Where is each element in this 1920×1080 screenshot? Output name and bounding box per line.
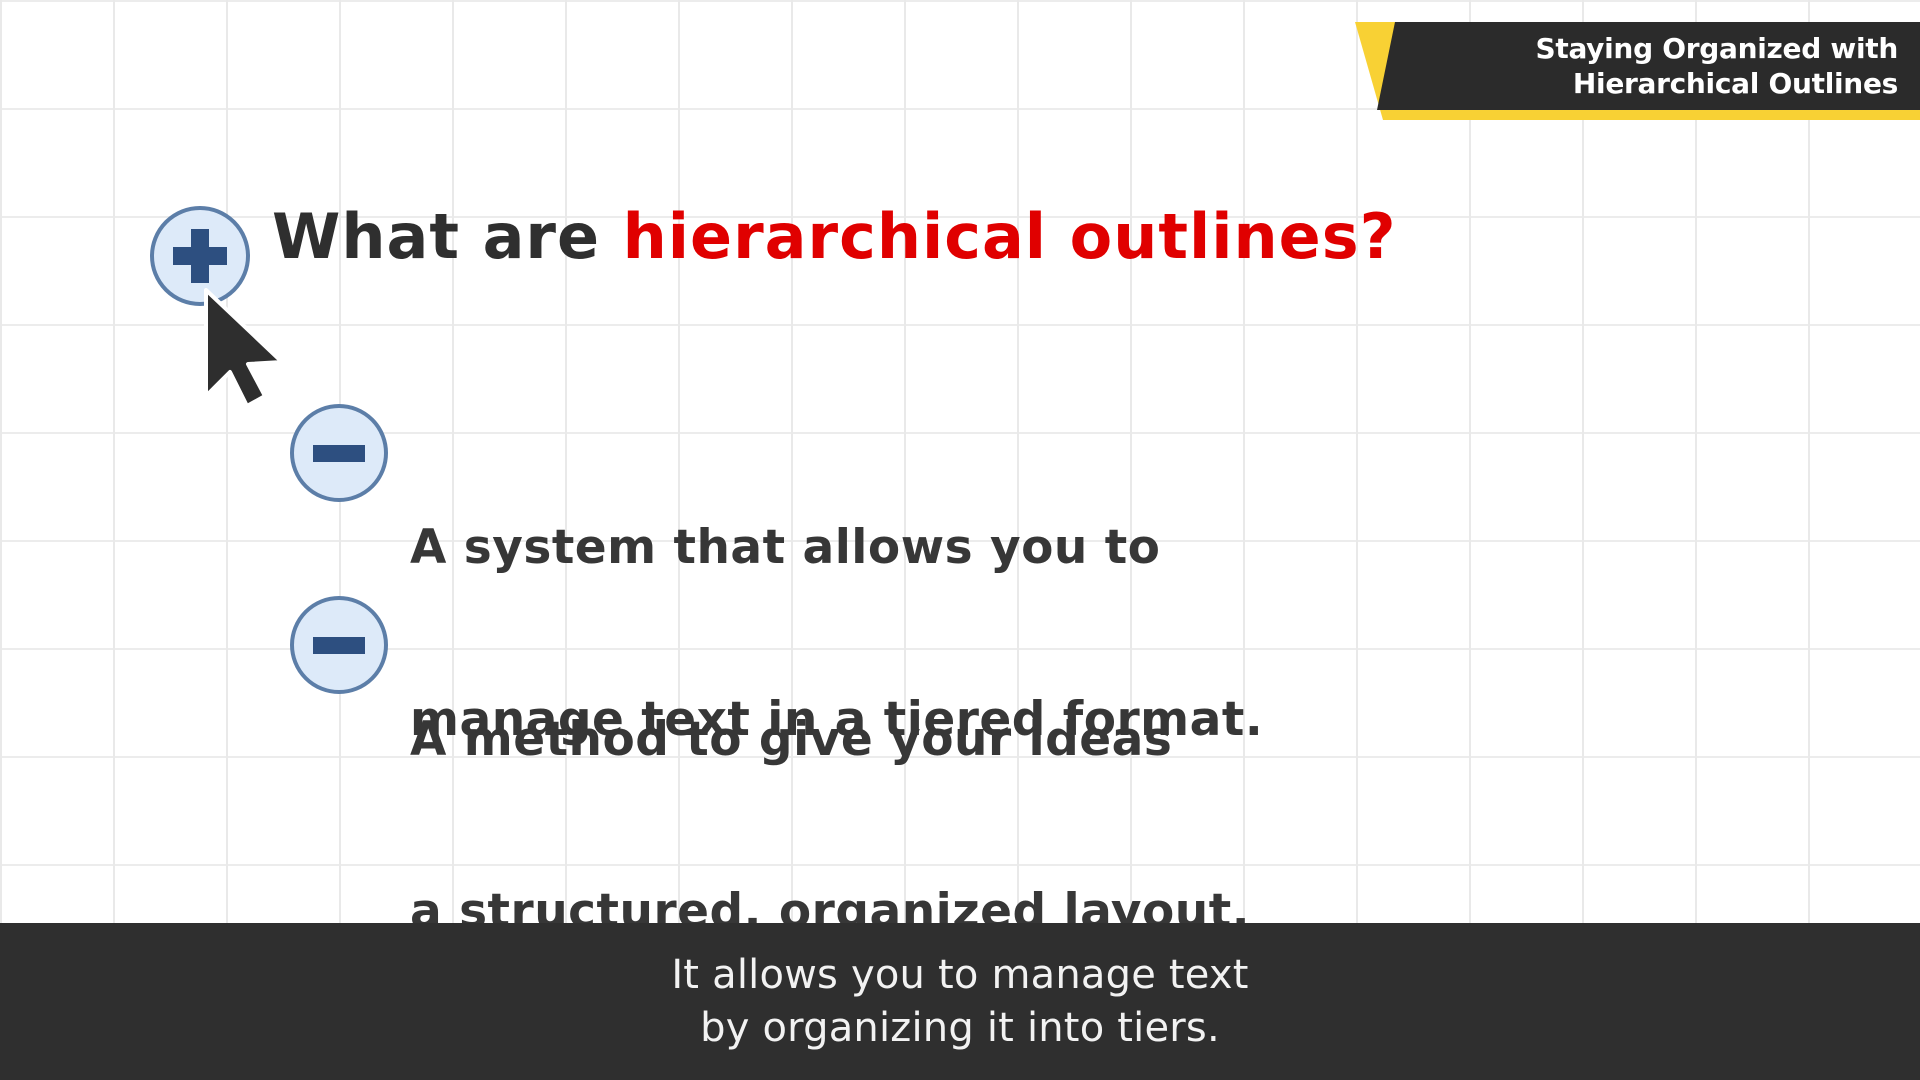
outline-root-node: What are hierarchical outlines?	[150, 198, 1397, 306]
root-label-segment-plain: What are	[272, 200, 623, 273]
minus-icon[interactable]	[290, 596, 388, 694]
child-2-line-1: A method to give your ideas	[410, 711, 1250, 768]
minus-glyph	[313, 637, 365, 654]
slide-canvas: Staying Organized with Hierarchical Outl…	[0, 0, 1920, 1080]
root-label-segment-highlight: hierarchical outlines?	[623, 200, 1397, 273]
plus-icon[interactable]	[150, 206, 250, 306]
caption-line-2: by organizing it into tiers.	[700, 1002, 1220, 1055]
minus-glyph	[313, 445, 365, 462]
outline-root-label: What are hierarchical outlines?	[272, 206, 1397, 268]
hierarchical-outline: What are hierarchical outlines? A system…	[0, 0, 1920, 1080]
caption-bar: It allows you to manage text by organizi…	[0, 923, 1920, 1080]
minus-icon[interactable]	[290, 404, 388, 502]
child-1-line-1: A system that allows you to	[410, 519, 1263, 576]
caption-line-1: It allows you to manage text	[671, 949, 1248, 1002]
plus-glyph	[173, 229, 227, 283]
